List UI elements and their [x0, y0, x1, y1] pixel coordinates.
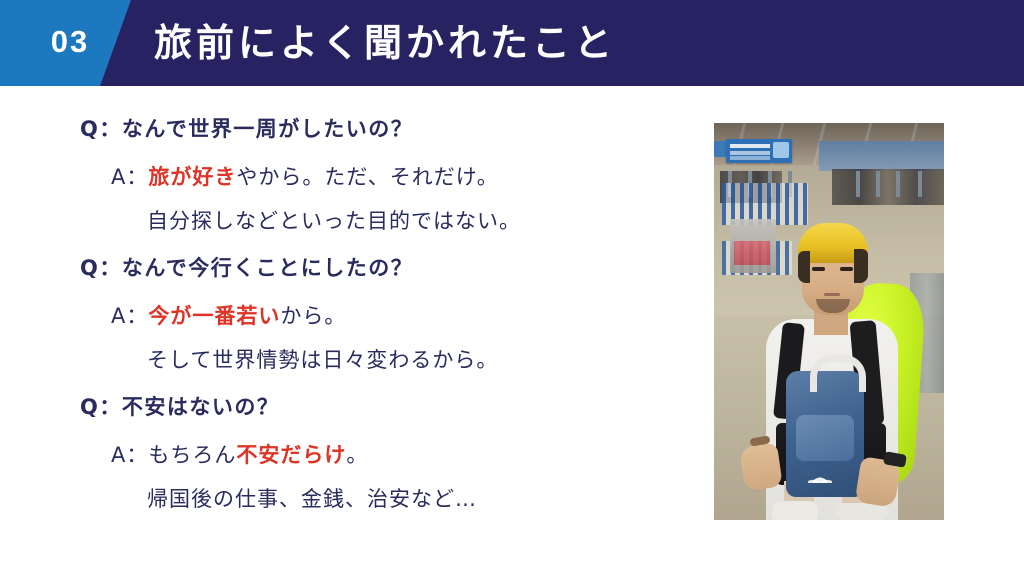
hair-side-left: [798, 251, 810, 283]
airport-direction-sign: [726, 139, 792, 163]
answer-rest: やから。ただ、それだけ。: [236, 165, 498, 189]
answer-line-2: 自分探しなどといった目的ではない。: [147, 206, 521, 236]
sneaker-left: [772, 501, 818, 520]
hair-side-right: [854, 249, 868, 283]
answer-line-2: そして世界情勢は日々変わるから。: [147, 345, 498, 375]
answer-line-1: A：もちろん不安だらけ。: [111, 440, 368, 470]
qa-content: Q：なんで世界一周がしたいの？ A：旅が好きやから。ただ、それだけ。 自分探しな…: [0, 86, 700, 576]
answer-highlight: 今が一番若い: [148, 304, 280, 328]
question-text: Q：なんで世界一周がしたいの？: [80, 114, 413, 144]
traveler-photo: [714, 123, 944, 520]
page-title: 旅前によく聞かれたこと: [154, 17, 616, 69]
queue-post: [896, 171, 900, 197]
answer-highlight: 不安だらけ: [236, 443, 346, 467]
headphones-icon: [810, 355, 866, 392]
answer-prefix: A：もちろん: [111, 443, 236, 467]
section-number: 03: [39, 21, 101, 63]
thumbs-up-left-hand: [739, 443, 783, 492]
luggage-cart: [730, 219, 776, 273]
answer-prefix: A：: [111, 304, 148, 328]
checkin-counter: [819, 141, 944, 171]
answer-rest: 。: [346, 443, 368, 467]
answer-line-1: A：旅が好きやから。ただ、それだけ。: [111, 162, 499, 192]
answer-prefix: A：: [111, 165, 148, 189]
queue-post: [876, 171, 880, 197]
question-text: Q：不安はないの？: [80, 392, 279, 422]
slide-header: 03 旅前によく聞かれたこと: [0, 0, 1024, 86]
sign-text-lines: [730, 144, 770, 148]
queue-post: [918, 171, 922, 197]
answer-line-1: A：今が一番若いから。: [111, 301, 346, 331]
answer-rest: から。: [280, 304, 346, 328]
question-text: Q：なんで今行くことにしたの？: [80, 253, 413, 283]
eye-right: [840, 267, 853, 271]
eye-left: [812, 267, 825, 271]
photo-scene: [714, 123, 944, 520]
mouth: [824, 293, 840, 296]
crowd-right: [832, 169, 944, 205]
answer-line-2: 帰国後の仕事、金銭、治安など…: [147, 484, 477, 514]
queue-post: [856, 171, 860, 197]
answer-highlight: 旅が好き: [148, 165, 236, 189]
northface-logo-icon: [808, 465, 832, 483]
